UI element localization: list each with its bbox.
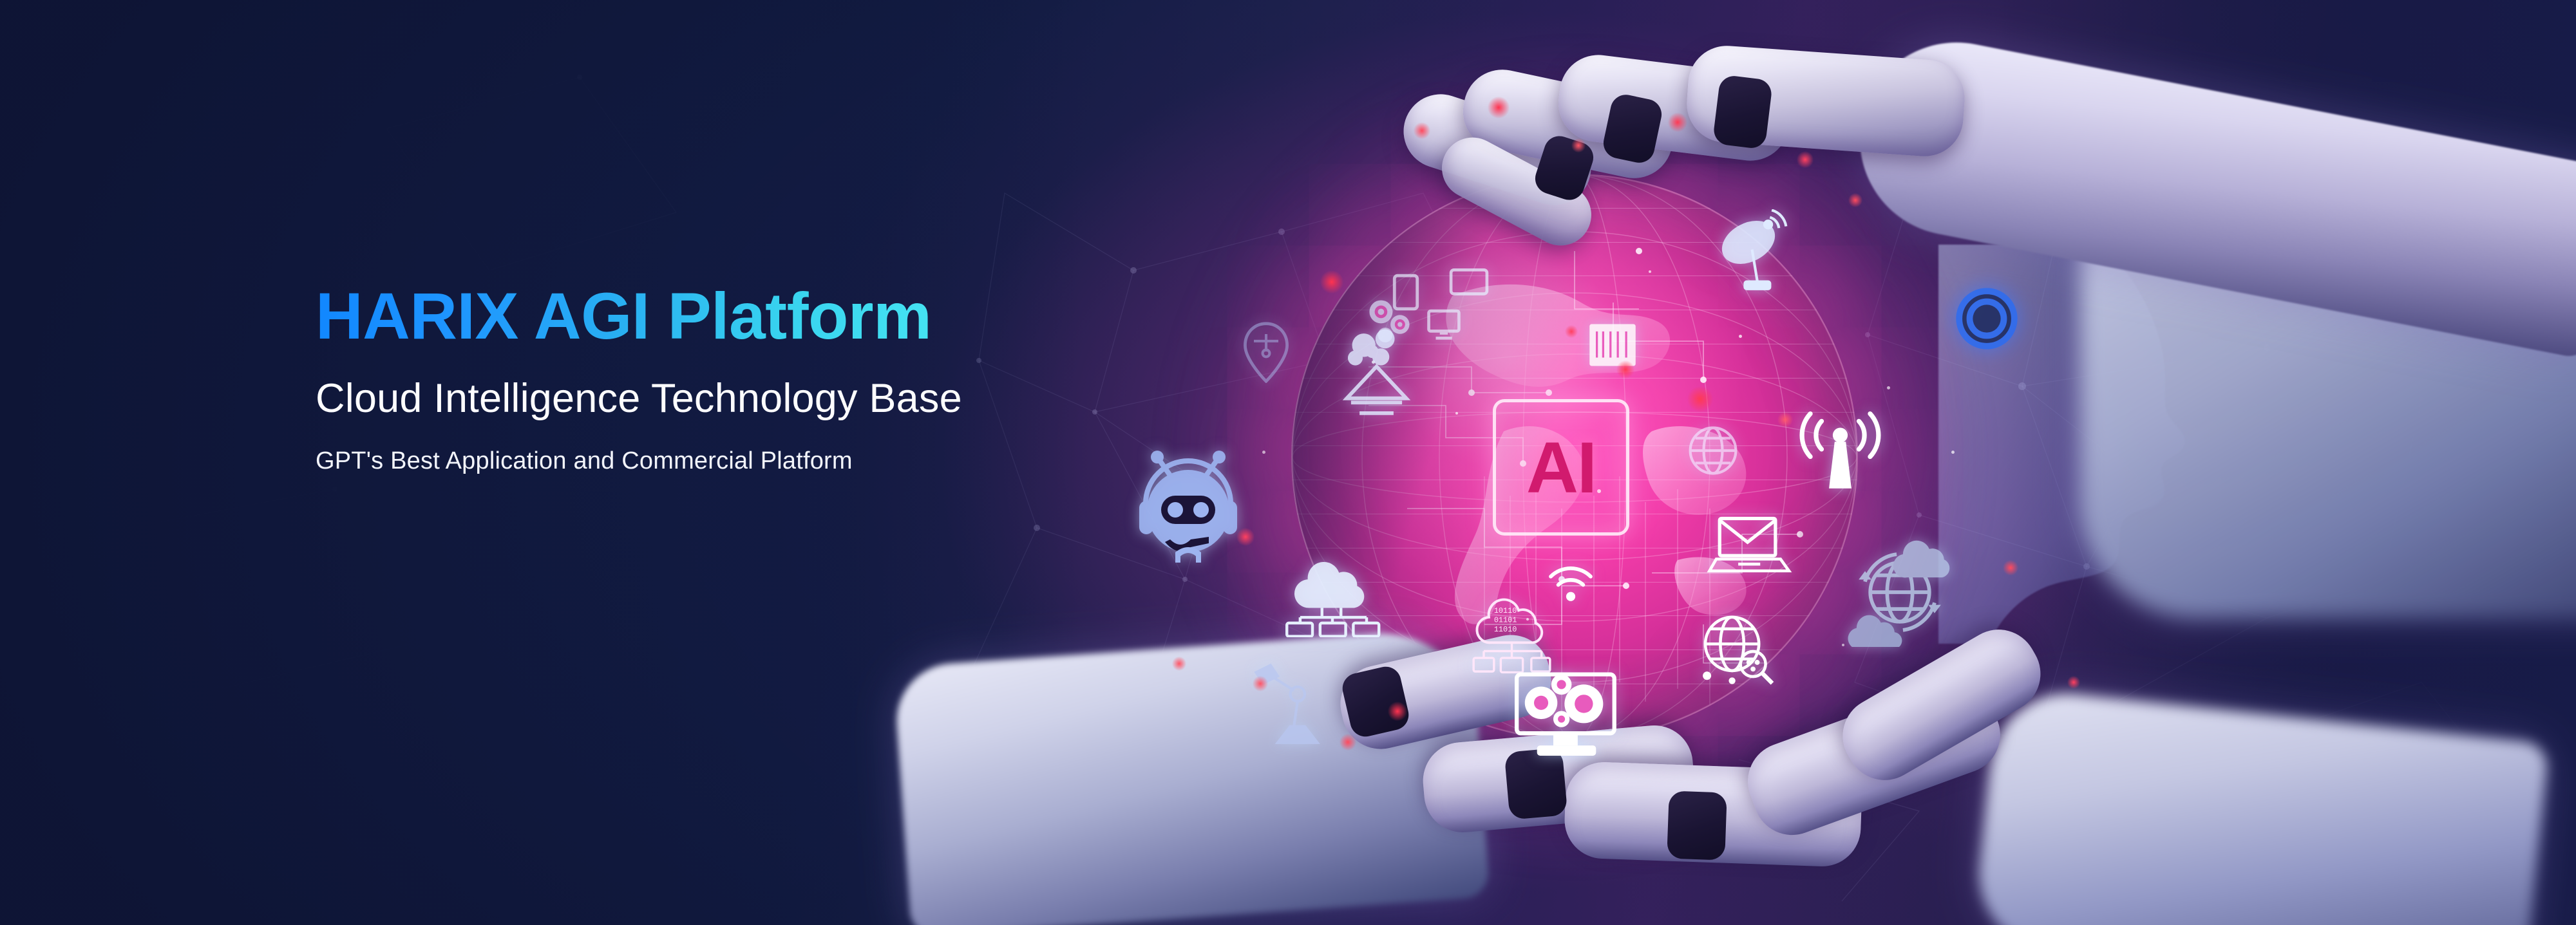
bokeh-dot xyxy=(1848,193,1862,207)
bokeh-dot xyxy=(1172,657,1186,671)
particle xyxy=(1455,412,1458,415)
wifi-small-icon xyxy=(1546,563,1596,603)
hero-banner: AI xyxy=(0,0,2576,925)
particle xyxy=(1951,451,1955,454)
email-laptop-icon xyxy=(1707,512,1794,579)
binary-cloud-icon: 101100110111010 xyxy=(1465,589,1558,676)
particle xyxy=(1739,335,1742,338)
monitor-gears-icon xyxy=(1510,666,1623,763)
bokeh-dot xyxy=(1687,386,1713,412)
ai-badge-label: AI xyxy=(1526,426,1596,509)
cloud-network-icon xyxy=(1278,547,1385,637)
page-subtitle: Cloud Intelligence Technology Base xyxy=(316,377,1410,421)
bokeh-dot xyxy=(1565,325,1578,338)
bokeh-dot xyxy=(2067,676,2080,689)
bokeh-dot xyxy=(1668,113,1687,132)
cloud-globe-sync-icon xyxy=(1842,534,1958,647)
svg-text:11010: 11010 xyxy=(1494,625,1517,634)
bokeh-dot xyxy=(1488,97,1510,118)
bokeh-dot xyxy=(1388,702,1407,721)
svg-text:10110: 10110 xyxy=(1494,606,1517,615)
bokeh-dot xyxy=(1777,412,1793,427)
ai-badge: AI xyxy=(1493,399,1629,536)
globe-grid-small-icon xyxy=(1684,422,1742,480)
page-title: HARIX AGI Platform xyxy=(316,282,931,351)
particle xyxy=(1887,386,1890,389)
satellite-dish-icon xyxy=(1716,209,1797,296)
bokeh-dot xyxy=(1236,528,1255,546)
robot-knuckle-bottom-3 xyxy=(1667,790,1727,860)
bokeh-dot xyxy=(1340,734,1356,751)
bokeh-dot xyxy=(2003,560,2018,575)
hero-copy-block: HARIX AGI Platform Cloud Intelligence Te… xyxy=(316,282,1410,476)
robot-knuckle-top-3 xyxy=(1712,74,1774,149)
globe-search-icon xyxy=(1697,608,1781,689)
svg-text:01101: 01101 xyxy=(1494,616,1517,625)
bokeh-dot xyxy=(1571,138,1586,153)
bokeh-dot xyxy=(1797,151,1814,168)
bokeh-dot xyxy=(1253,676,1268,691)
screen-small-icon xyxy=(1449,267,1489,301)
blue-gear-icon xyxy=(1945,277,2029,360)
monitor-small-icon xyxy=(1426,309,1461,341)
bokeh-dot xyxy=(1414,122,1430,139)
page-tagline: GPT's Best Application and Commercial Pl… xyxy=(316,447,1410,476)
particle xyxy=(1649,270,1651,273)
wifi-signal-tower-icon xyxy=(1794,406,1887,496)
bokeh-dot xyxy=(1616,360,1634,378)
robot-arm-icon xyxy=(1249,660,1333,750)
